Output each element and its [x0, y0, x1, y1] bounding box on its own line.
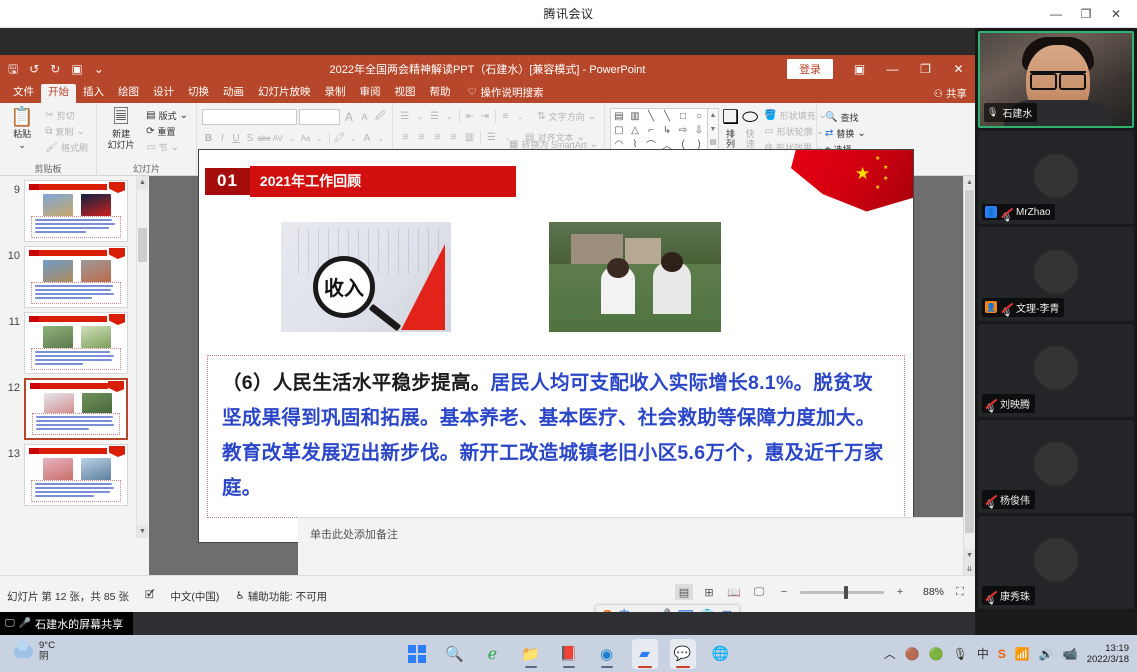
- active-indicator: [676, 666, 690, 668]
- thumbnail-number: 12: [6, 378, 20, 394]
- powerpoint-window-controls: 登录 ▣ — ❐ ✕: [787, 55, 975, 83]
- new-slide-label-1: 新建: [112, 129, 130, 139]
- paste-dropdown-icon[interactable]: ⌄: [18, 140, 26, 150]
- tab-help[interactable]: 帮助: [423, 84, 458, 103]
- start-slideshow-icon[interactable]: ▣: [71, 63, 82, 75]
- participant-tile-kangxiuzhu[interactable]: 🎙 康秀珠: [978, 516, 1134, 609]
- tab-view[interactable]: 视图: [388, 84, 423, 103]
- taskbar-clock[interactable]: 13:19 2022/3/18: [1087, 643, 1129, 665]
- font-name-input[interactable]: [202, 109, 297, 125]
- find-button[interactable]: 🔍 查找: [822, 110, 869, 125]
- paste-icon: 📋: [10, 108, 34, 128]
- zoom-out-button[interactable]: −: [775, 584, 793, 600]
- thumbnail-scrollbar[interactable]: ▲ ▼: [136, 176, 148, 538]
- network-icon[interactable]: 📶: [1015, 647, 1030, 661]
- cloud-icon: [14, 645, 33, 658]
- participant-namebar: 👤 🎙 文理-李青: [982, 298, 1064, 317]
- flag-icon: [109, 182, 125, 193]
- smartart-icon: ▦: [509, 139, 518, 150]
- microphone-icon: 🎤: [19, 618, 31, 629]
- chinese-flag-graphic: ★ ★ ★ ★ ★: [791, 150, 913, 212]
- microphone-icon: 🎙: [987, 107, 998, 118]
- file-explorer-button[interactable]: 📁: [518, 639, 544, 669]
- thumb-title-bar: [29, 316, 107, 322]
- chevron-down-icon[interactable]: ⌄: [589, 139, 597, 150]
- fit-to-window-button[interactable]: ⛶: [951, 584, 969, 600]
- zoom-slider-handle[interactable]: [844, 586, 848, 599]
- layout-icon: ▤: [146, 110, 155, 121]
- zoom-level[interactable]: 88%: [916, 586, 944, 598]
- scroll-up-icon[interactable]: ▲: [137, 176, 148, 189]
- ribbon-tabs: 文件 开始 插入 绘图 设计 切换 动画 幻灯片放映 录制 审阅 视图 帮助 ♡…: [0, 83, 975, 103]
- text-direction-button[interactable]: ⇅ 文字方向 ⌄: [534, 109, 599, 124]
- flag-icon: [109, 248, 125, 259]
- ribbon-group-slides: 🗏 新建 幻灯片 ▤ 版式 ⌄ ⟳ 重置: [96, 103, 196, 176]
- thumb-image-left: [43, 326, 73, 348]
- flag-icon: [109, 314, 125, 325]
- sogou-icon[interactable]: S: [998, 647, 1006, 661]
- thumb-text-block: [31, 348, 121, 370]
- screen-share-bar: 🖵 🎤 石建水的屏幕共享: [0, 612, 975, 635]
- text-columns-icon[interactable]: ☰: [484, 130, 499, 145]
- shared-screen-area: 🖫 ↺ ↻ ▣ ⌄ 2022年全国两会精神解读PPT（石建水）[兼容模式] - …: [0, 28, 975, 612]
- cut-label: 剪切: [57, 109, 75, 122]
- windows-logo-icon: [408, 645, 426, 663]
- cohost-badge-icon: 👤: [985, 301, 997, 313]
- thumb-title-bar: [29, 250, 107, 256]
- nvidia-icon[interactable]: 🟤: [905, 647, 920, 661]
- quick-access-toolbar: 🖫 ↺ ↻ ▣ ⌄: [0, 63, 104, 75]
- format-painter-label: 格式刷: [61, 141, 88, 154]
- share-label: 共享: [946, 86, 967, 101]
- weather-widget[interactable]: 9°C 阴: [14, 640, 55, 662]
- replace-icon: ⇄: [825, 128, 833, 139]
- divider: [480, 131, 481, 144]
- shape-fill-icon: 🪣: [764, 110, 776, 121]
- shape-outline-label: 形状轮廓: [777, 125, 813, 138]
- microphone-muted-icon: 🎙: [1001, 302, 1012, 313]
- thumb-text-block: [31, 216, 121, 238]
- text-direction-label: 文字方向: [549, 110, 585, 123]
- app-title: 腾讯会议: [543, 5, 593, 22]
- slide-body-text: （6）人民生活水平稳步提高。居民人均可支配收入实际增长8.1%。脱贫攻坚成果得到…: [222, 366, 890, 506]
- shape-outline-icon: ▭: [764, 126, 773, 137]
- chevron-down-icon[interactable]: ⌄: [313, 131, 326, 146]
- customize-qat-icon[interactable]: ⌄: [94, 63, 104, 75]
- text-shadow-button[interactable]: S: [244, 131, 257, 146]
- powerpoint-body: 9 10: [0, 176, 975, 612]
- tencent-meeting-button[interactable]: ▰: [632, 639, 658, 669]
- normal-view-button[interactable]: ▤: [675, 584, 693, 600]
- thumb-image-right: [81, 458, 111, 480]
- cut-button[interactable]: ✂ 剪切: [42, 108, 91, 123]
- folder-icon: 📁: [521, 645, 540, 663]
- reset-icon: ⟳: [146, 126, 154, 137]
- accessibility-icon: ♿: [235, 590, 244, 602]
- participant-tile-self[interactable]: 🎙 石建水: [978, 31, 1134, 128]
- search-icon: 🔍: [825, 112, 837, 123]
- shrink-font-button[interactable]: A: [358, 110, 372, 125]
- person-share-icon: ⚇: [934, 88, 943, 100]
- zoom-in-button[interactable]: +: [891, 584, 909, 600]
- slide-thumbnail-11[interactable]: [24, 312, 128, 374]
- redo-icon[interactable]: ↻: [50, 63, 60, 75]
- magnifier-handle: [369, 303, 402, 331]
- format-painter-button[interactable]: 🖌 格式刷: [42, 140, 91, 155]
- thumbnail-number: 11: [6, 312, 20, 328]
- thumb-image-left: [43, 458, 73, 480]
- internet-explorer-icon: ℯ: [488, 644, 497, 664]
- income-magnifier-image[interactable]: 收入: [281, 222, 451, 332]
- layout-button[interactable]: ▤ 版式 ⌄: [143, 108, 191, 123]
- slide-editing-pane[interactable]: ★ ★ ★ ★ ★ 01 2021年工作回顾: [149, 176, 975, 575]
- participant-namebar: 👤 🎙 MrZhao: [982, 204, 1055, 220]
- shape-rounded-rect-icon[interactable]: ▢: [611, 123, 627, 137]
- weather-condition: 阴: [39, 651, 55, 662]
- thumb-text-block: [31, 282, 121, 304]
- chevron-down-icon[interactable]: ⌄: [180, 110, 188, 121]
- find-label: 查找: [840, 111, 858, 124]
- undo-icon[interactable]: ↺: [29, 63, 39, 75]
- tab-design[interactable]: 设计: [146, 84, 181, 103]
- chevron-down-icon[interactable]: ⌄: [285, 131, 298, 146]
- increase-indent-icon[interactable]: ⇥: [478, 109, 492, 124]
- line-spacing-icon[interactable]: ≡: [499, 109, 513, 124]
- microphone-muted-icon: 🎙: [985, 494, 996, 505]
- pdf-icon: 📕: [560, 645, 577, 662]
- slide-thumbnail-pane[interactable]: 9 10: [0, 176, 148, 575]
- minimize-button[interactable]: —: [876, 55, 909, 83]
- powerpoint-window: 🖫 ↺ ↻ ▣ ⌄ 2022年全国两会精神解读PPT（石建水）[兼容模式] - …: [0, 55, 975, 612]
- spellcheck-icon[interactable]: 🗹: [142, 586, 157, 606]
- thumb-text-block: [32, 413, 120, 435]
- maximize-button[interactable]: ❐: [1071, 2, 1101, 26]
- chevron-down-icon[interactable]: ⌄: [857, 128, 865, 139]
- thumb-image-left: [43, 260, 73, 282]
- chevron-down-icon[interactable]: ⌄: [588, 111, 596, 122]
- thumb-title-bar: [29, 184, 107, 190]
- slide-thumbnail-13[interactable]: [24, 444, 128, 506]
- slideshow-button[interactable]: 🖵: [750, 584, 768, 600]
- new-slide-icon: 🗏: [113, 108, 128, 128]
- shape-down-arrow-icon[interactable]: ⇩: [691, 123, 707, 137]
- start-button[interactable]: [404, 639, 430, 669]
- shape-oval-icon[interactable]: ○: [691, 109, 707, 123]
- chevron-down-icon[interactable]: ⌄: [513, 109, 527, 124]
- lightbulb-icon: ♡: [468, 87, 477, 98]
- participant-name: 石建水: [1002, 105, 1032, 120]
- thumbnail-number: 10: [6, 246, 20, 262]
- powerpoint-status-bar: 幻灯片 第 12 张，共 85 张 🗹 中文(中国) ♿ 辅助功能: 不可用 ▤…: [0, 575, 975, 612]
- new-slide-button[interactable]: 🗏 新建 幻灯片: [102, 106, 140, 150]
- scroll-up-icon[interactable]: ▲: [964, 176, 975, 189]
- change-case-button[interactable]: Aa: [299, 131, 312, 146]
- shapes-gallery[interactable]: ▤ ▥ ╲ ╲ □ ○ ▢ △ ⌐ ↳ ⇨ ⇩: [610, 108, 708, 152]
- thumbnail-row: 12: [0, 374, 148, 440]
- divider: [459, 110, 460, 123]
- ime-icon[interactable]: 中: [977, 645, 989, 662]
- shape-right-arrow-icon[interactable]: ⇨: [675, 123, 691, 137]
- underline-button[interactable]: U: [230, 131, 243, 146]
- copy-icon: ⧉: [45, 126, 52, 137]
- participant-tile-wenli-liqing[interactable]: 👤 🎙 文理-李青: [978, 227, 1134, 320]
- clipboard-group-label: 剪贴板: [5, 163, 91, 176]
- thumb-title-bar: [29, 448, 107, 454]
- slide-section-banner: 01 2021年工作回顾: [205, 166, 516, 197]
- slide-canvas[interactable]: ★ ★ ★ ★ ★ 01 2021年工作回顾: [199, 150, 913, 542]
- microphone-icon[interactable]: 🎙: [953, 647, 968, 661]
- decrease-indent-icon[interactable]: ⇤: [463, 109, 477, 124]
- tencent-meeting-titlebar: 腾讯会议 — ❐ ✕: [0, 0, 1137, 28]
- section-label: 节: [159, 141, 168, 154]
- thumb-text-block: [31, 480, 121, 502]
- person-head-2: [661, 252, 683, 272]
- participant-namebar: 🎙 刘映腾: [982, 394, 1035, 413]
- microphone-muted-icon: 🎙: [1001, 207, 1012, 218]
- section-icon: ▭: [146, 142, 155, 153]
- tab-slideshow[interactable]: 幻灯片放映: [251, 84, 318, 103]
- tab-animations[interactable]: 动画: [216, 84, 251, 103]
- farmers-photo[interactable]: [549, 222, 721, 332]
- align-center-icon[interactable]: ≡: [414, 130, 429, 145]
- scissors-icon: ✂: [45, 110, 53, 121]
- scrollbar-thumb[interactable]: [138, 228, 147, 262]
- section-title: 2021年工作回顾: [250, 166, 516, 197]
- running-indicator: [525, 666, 537, 668]
- screen-share-label: 石建水的屏幕共享: [35, 616, 123, 632]
- participant-tile-mrzhao[interactable]: 👤 🎙 MrZhao 正在讲话: 石建水:: [978, 131, 1134, 224]
- slide-thumbnail-12[interactable]: [24, 378, 128, 440]
- search-button[interactable]: 🔍: [442, 639, 468, 669]
- scrollbar-thumb[interactable]: [965, 190, 974, 533]
- language-indicator[interactable]: 中文(中国): [167, 588, 222, 605]
- slide-scrollbar[interactable]: ▲ ▼ ⇊: [963, 176, 975, 575]
- shape-elbow-arrow-icon[interactable]: ↳: [659, 123, 675, 137]
- participant-name: 文理-李青: [1016, 300, 1059, 315]
- glasses-shape: [1030, 71, 1086, 84]
- login-button[interactable]: 登录: [787, 59, 833, 79]
- clock-time: 13:19: [1087, 643, 1129, 654]
- restore-button[interactable]: ❐: [909, 55, 942, 83]
- running-indicator: [601, 666, 613, 668]
- quick-styles-icon: ⬭: [742, 108, 758, 128]
- shapes-scroll-down-icon[interactable]: ▼: [708, 123, 718, 136]
- thumb-image-left: [44, 393, 74, 415]
- share-button[interactable]: ⚇ 共享: [934, 86, 967, 101]
- shapes-more-icon[interactable]: ▤: [708, 136, 718, 149]
- participant-namebar: 🎙 康秀珠: [982, 586, 1035, 605]
- meeting-tray-icon[interactable]: 📹: [1063, 647, 1078, 661]
- participant-name: MrZhao: [1016, 207, 1050, 218]
- slide-sorter-button[interactable]: ⊞: [700, 584, 718, 600]
- slides-group-label: 幻灯片: [102, 163, 191, 176]
- reset-button[interactable]: ⟳ 重置: [143, 124, 191, 139]
- arrange-icon: ❑: [722, 108, 739, 128]
- justify-icon[interactable]: ≡: [446, 130, 461, 145]
- avatar: [1034, 442, 1078, 486]
- participant-name: 杨俊伟: [1000, 492, 1030, 507]
- running-indicator: [563, 666, 575, 668]
- bullets-icon[interactable]: ☰: [398, 109, 412, 124]
- chevron-down-icon[interactable]: ⌄: [413, 109, 427, 124]
- participant-name: 康秀珠: [1000, 588, 1030, 603]
- thumb-image-right: [82, 393, 112, 415]
- replace-label: 替换: [836, 127, 854, 140]
- close-button[interactable]: ✕: [1101, 2, 1131, 26]
- bold-button[interactable]: B: [202, 131, 215, 146]
- accessibility-label: 辅助功能: 不可用: [248, 589, 327, 604]
- tencent-meeting-icon: ▰: [639, 645, 650, 662]
- shapes-scroll[interactable]: ▲ ▼ ▤: [708, 108, 719, 150]
- shape-line-icon[interactable]: ╲: [643, 109, 659, 123]
- notes-placeholder[interactable]: 单击此处添加备注: [298, 517, 963, 575]
- thumb-image-left: [43, 194, 73, 216]
- tab-transitions[interactable]: 切换: [181, 84, 216, 103]
- scroll-down-icon[interactable]: ▼: [964, 549, 975, 562]
- thumb-image-right: [81, 194, 111, 216]
- tab-file[interactable]: 文件: [6, 84, 41, 103]
- taskbar-apps: 🔍 ℯ 📁 📕 ◉ ▰ 💬 🌐: [404, 635, 734, 672]
- chevron-down-icon[interactable]: ⌄: [347, 131, 360, 146]
- text-direction-icon: ⇅: [537, 111, 545, 122]
- grow-font-button[interactable]: A: [342, 110, 356, 125]
- browser-app-button[interactable]: 🌐: [708, 639, 734, 669]
- paste-button[interactable]: 📋 粘贴 ⌄: [5, 106, 39, 150]
- tab-insert[interactable]: 插入: [76, 84, 111, 103]
- clock-date: 2022/3/18: [1087, 654, 1129, 665]
- shape-arrow-icon[interactable]: ╲: [659, 109, 675, 123]
- microphone-muted-icon: 🎙: [985, 590, 996, 601]
- tell-me-search[interactable]: ♡ 操作说明搜索: [458, 83, 550, 103]
- copy-button[interactable]: ⧉ 复制 ⌄: [42, 124, 91, 139]
- internet-explorer-button[interactable]: ℯ: [480, 639, 506, 669]
- slide-counter[interactable]: 幻灯片 第 12 张，共 85 张: [4, 588, 132, 605]
- powerpoint-titlebar: 🖫 ↺ ↻ ▣ ⌄ 2022年全国两会精神解读PPT（石建水）[兼容模式] - …: [0, 55, 975, 83]
- chevron-down-icon[interactable]: ⌄: [442, 109, 456, 124]
- shape-elbow-icon[interactable]: ⌐: [643, 123, 659, 137]
- red-arrow-graphic: [401, 244, 445, 330]
- ribbon-display-options-icon[interactable]: ▣: [843, 55, 876, 83]
- slide-canvas-wrap: ★ ★ ★ ★ ★ 01 2021年工作回顾: [149, 176, 963, 515]
- screen-share-chip[interactable]: 🖵 🎤 石建水的屏幕共享: [0, 612, 133, 635]
- copy-label: 复制: [55, 125, 73, 138]
- slide-body-lead: （6）人民生活水平稳步提高。: [222, 372, 491, 394]
- windows-taskbar: 9°C 阴 🔍 ℯ 📁 📕 ◉ ▰ 💬 🌐 ︿ 🟤 🟢 🎙 中 S 📶: [0, 635, 1137, 672]
- replace-button[interactable]: ⇄ 替换 ⌄: [822, 126, 869, 141]
- align-left-icon[interactable]: ≡: [398, 130, 413, 145]
- participant-video-strip: 🎙 石建水 👤 🎙 MrZhao 正在讲话: 石建水: 👤 🎙 文理-: [975, 28, 1137, 612]
- zoom-slider[interactable]: [800, 591, 884, 594]
- thumbnail-row: 13: [0, 440, 148, 506]
- numbering-icon[interactable]: ☰: [428, 109, 442, 124]
- columns-icon[interactable]: ▥: [462, 130, 477, 145]
- update-icon[interactable]: 🟢: [929, 647, 944, 661]
- slide-thumbnail-10[interactable]: [24, 246, 128, 308]
- avatar: [1034, 538, 1078, 582]
- shapes-scroll-up-icon[interactable]: ▲: [708, 109, 718, 122]
- tab-record[interactable]: 录制: [318, 84, 353, 103]
- paintbrush-icon: 🖌: [45, 142, 58, 153]
- pdf-reader-button[interactable]: 📕: [556, 639, 582, 669]
- new-slide-label-2: 幻灯片: [108, 140, 135, 150]
- volume-icon[interactable]: 🔊: [1039, 647, 1054, 661]
- shape-triangle-icon[interactable]: △: [627, 123, 643, 137]
- section-button[interactable]: ▭ 节 ⌄: [143, 140, 191, 155]
- person-head-1: [607, 258, 629, 278]
- character-spacing-button[interactable]: AV: [271, 131, 284, 146]
- slide-body-textbox[interactable]: （6）人民生活水平稳步提高。居民人均可支配收入实际增长8.1%。脱贫攻坚成果得到…: [207, 355, 905, 518]
- show-hidden-icons[interactable]: ︿: [884, 645, 896, 662]
- house-shape-2: [625, 238, 661, 264]
- weather-temperature: 9°C: [39, 640, 55, 651]
- tab-draw[interactable]: 绘图: [111, 84, 146, 103]
- tell-me-label: 操作说明搜索: [480, 85, 543, 100]
- window-controls: — ❐ ✕: [1041, 0, 1131, 28]
- reading-view-button[interactable]: 📖: [725, 584, 743, 600]
- tab-home[interactable]: 开始: [41, 84, 76, 103]
- reset-label: 重置: [158, 125, 176, 138]
- shape-vertical-textbox-icon[interactable]: ▥: [627, 109, 643, 123]
- thumb-title-bar: [30, 383, 108, 389]
- wechat-button[interactable]: 💬: [670, 639, 696, 669]
- layout-label: 版式: [159, 109, 177, 122]
- microphone-muted-icon: 🎙: [985, 398, 996, 409]
- participant-tile-liuyingteng[interactable]: 🎙 刘映腾: [978, 324, 1134, 417]
- chevron-down-icon[interactable]: ⌄: [76, 126, 84, 137]
- screen-share-icon: 🖵: [5, 618, 15, 629]
- close-button[interactable]: ✕: [942, 55, 975, 83]
- system-tray: ︿ 🟤 🟢 🎙 中 S 📶 🔊 📹 13:19 2022/3/18: [884, 635, 1129, 672]
- shape-textbox-icon[interactable]: ▤: [611, 109, 627, 123]
- font-color-button[interactable]: A: [360, 131, 373, 146]
- chevron-down-icon[interactable]: ⌄: [171, 142, 179, 153]
- divider: [495, 110, 496, 123]
- italic-button[interactable]: I: [216, 131, 229, 146]
- clear-formatting-icon[interactable]: 🖉: [373, 110, 387, 125]
- participant-tile-yangjunwei[interactable]: 🎙 杨俊伟: [978, 420, 1134, 513]
- tab-review[interactable]: 审阅: [353, 84, 388, 103]
- save-icon[interactable]: 🖫: [8, 63, 18, 75]
- arrange-label: 排列: [722, 129, 739, 149]
- minimize-button[interactable]: —: [1041, 2, 1071, 26]
- thumb-image-right: [81, 326, 111, 348]
- host-badge-icon: 👤: [985, 206, 997, 218]
- wechat-icon: 💬: [674, 645, 691, 662]
- avatar: [1034, 346, 1078, 390]
- microsoft-edge-button[interactable]: ◉: [594, 639, 620, 669]
- thumbnail-row: 10: [0, 242, 148, 308]
- strikethrough-button[interactable]: abc: [257, 131, 270, 146]
- section-number: 01: [205, 168, 250, 195]
- chevron-down-icon[interactable]: ⌄: [374, 131, 387, 146]
- next-slide-icon[interactable]: ⇊: [964, 562, 975, 575]
- avatar: [1034, 250, 1078, 294]
- thumbnail-number: 9: [6, 180, 20, 196]
- thumb-image-right: [81, 260, 111, 282]
- accessibility-status[interactable]: ♿ 辅助功能: 不可用: [232, 588, 330, 605]
- scroll-down-icon[interactable]: ▼: [137, 525, 148, 538]
- thumbnail-row: 11: [0, 308, 148, 374]
- slide-thumbnail-9[interactable]: [24, 180, 128, 242]
- participant-name: 刘映腾: [1000, 396, 1030, 411]
- highlight-icon[interactable]: 🖍: [333, 131, 346, 146]
- participant-namebar: 🎙 杨俊伟: [982, 490, 1035, 509]
- align-right-icon[interactable]: ≡: [430, 130, 445, 145]
- participant-namebar: 🎙 石建水: [984, 103, 1037, 122]
- shape-rectangle-icon[interactable]: □: [675, 109, 691, 123]
- font-size-input[interactable]: [299, 109, 340, 125]
- divider: [329, 132, 330, 145]
